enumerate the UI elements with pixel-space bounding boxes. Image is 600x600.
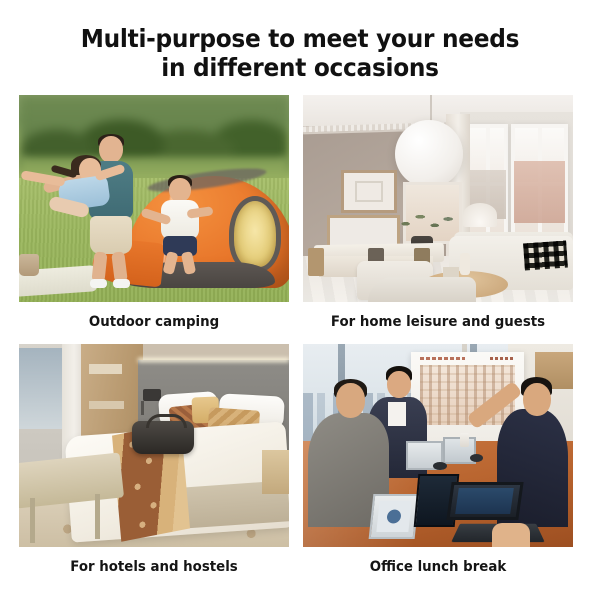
- building-outside: [514, 161, 565, 223]
- outdoor-camping-photo: [19, 95, 289, 302]
- nightstand: [262, 450, 289, 495]
- tent-door: [229, 196, 281, 272]
- usecase-row-top: Outdoor camping: [19, 95, 583, 330]
- usecase-grid: Outdoor camping: [19, 95, 583, 575]
- paper-cup: [460, 433, 469, 447]
- computer-mouse-left: [433, 462, 447, 470]
- checkered-cushion: [524, 241, 569, 271]
- slide-title-text: [420, 357, 465, 361]
- caption-office-lunch-break: Office lunch break: [314, 547, 562, 575]
- reading-sconce: [143, 389, 161, 401]
- promo-page: Multi-purpose to meet your needs in diff…: [0, 0, 600, 600]
- hotel-window: [19, 348, 68, 429]
- decor-candle: [460, 253, 470, 275]
- home-leisure-photo: [303, 95, 573, 302]
- framed-art-upper: [341, 170, 398, 213]
- caption-home-leisure: For home leisure and guests: [314, 302, 562, 330]
- caption-outdoor-camping: Outdoor camping: [30, 302, 278, 330]
- globe-pendant-lamp: [395, 120, 463, 188]
- businessman-foreground-head: [336, 383, 365, 417]
- page-title: Multi-purpose to meet your needs in diff…: [21, 0, 579, 82]
- businessman-right-head: [523, 383, 551, 416]
- usecase-cell-home: For home leisure and guests: [303, 95, 573, 330]
- businessman-center-shirt: [388, 402, 406, 426]
- bench-leg-2: [95, 494, 100, 539]
- usecase-row-bottom: For hotels and hostels: [19, 344, 583, 575]
- camp-bucket: [19, 254, 39, 276]
- girl-figure: [43, 158, 121, 224]
- sconce-arm: [141, 401, 144, 415]
- usecase-cell-hotel: For hotels and hostels: [19, 344, 289, 575]
- usecase-cell-office: Office lunch break: [303, 344, 573, 575]
- page-title-line-2: in different occasions: [21, 53, 579, 82]
- father-leg-right: [111, 251, 128, 282]
- headboard-light: [138, 358, 289, 362]
- father-shoe-left: [90, 279, 107, 288]
- dining-chair-1: [308, 248, 324, 276]
- usecase-cell-camping: Outdoor camping: [19, 95, 289, 330]
- camping-tent: [127, 168, 289, 288]
- office-lunch-break-photo: [303, 344, 573, 547]
- laptop-screen: [446, 482, 523, 520]
- father-leg-left: [91, 251, 107, 282]
- travel-bag: [132, 421, 194, 453]
- businessman-center-head: [387, 371, 411, 399]
- hotel-shelf-lower: [89, 401, 124, 409]
- caption-hotels-hostels: For hotels and hostels: [30, 547, 278, 575]
- table-lamp: [463, 203, 497, 227]
- hotels-hostels-photo: [19, 344, 289, 547]
- page-title-line-1: Multi-purpose to meet your needs: [81, 24, 519, 53]
- decor-books: [443, 267, 459, 277]
- computer-mouse-right: [470, 454, 483, 462]
- father-shoe-right: [113, 279, 130, 288]
- hotel-shelf-upper: [89, 364, 121, 374]
- tablet-foreground: [368, 494, 419, 539]
- typing-hand: [492, 523, 530, 547]
- slide-logo-text: [490, 357, 515, 361]
- boy-head: [169, 178, 191, 202]
- boy-figure: [157, 178, 201, 280]
- bench-leg-1: [30, 498, 35, 543]
- throw-blanket: [368, 277, 476, 302]
